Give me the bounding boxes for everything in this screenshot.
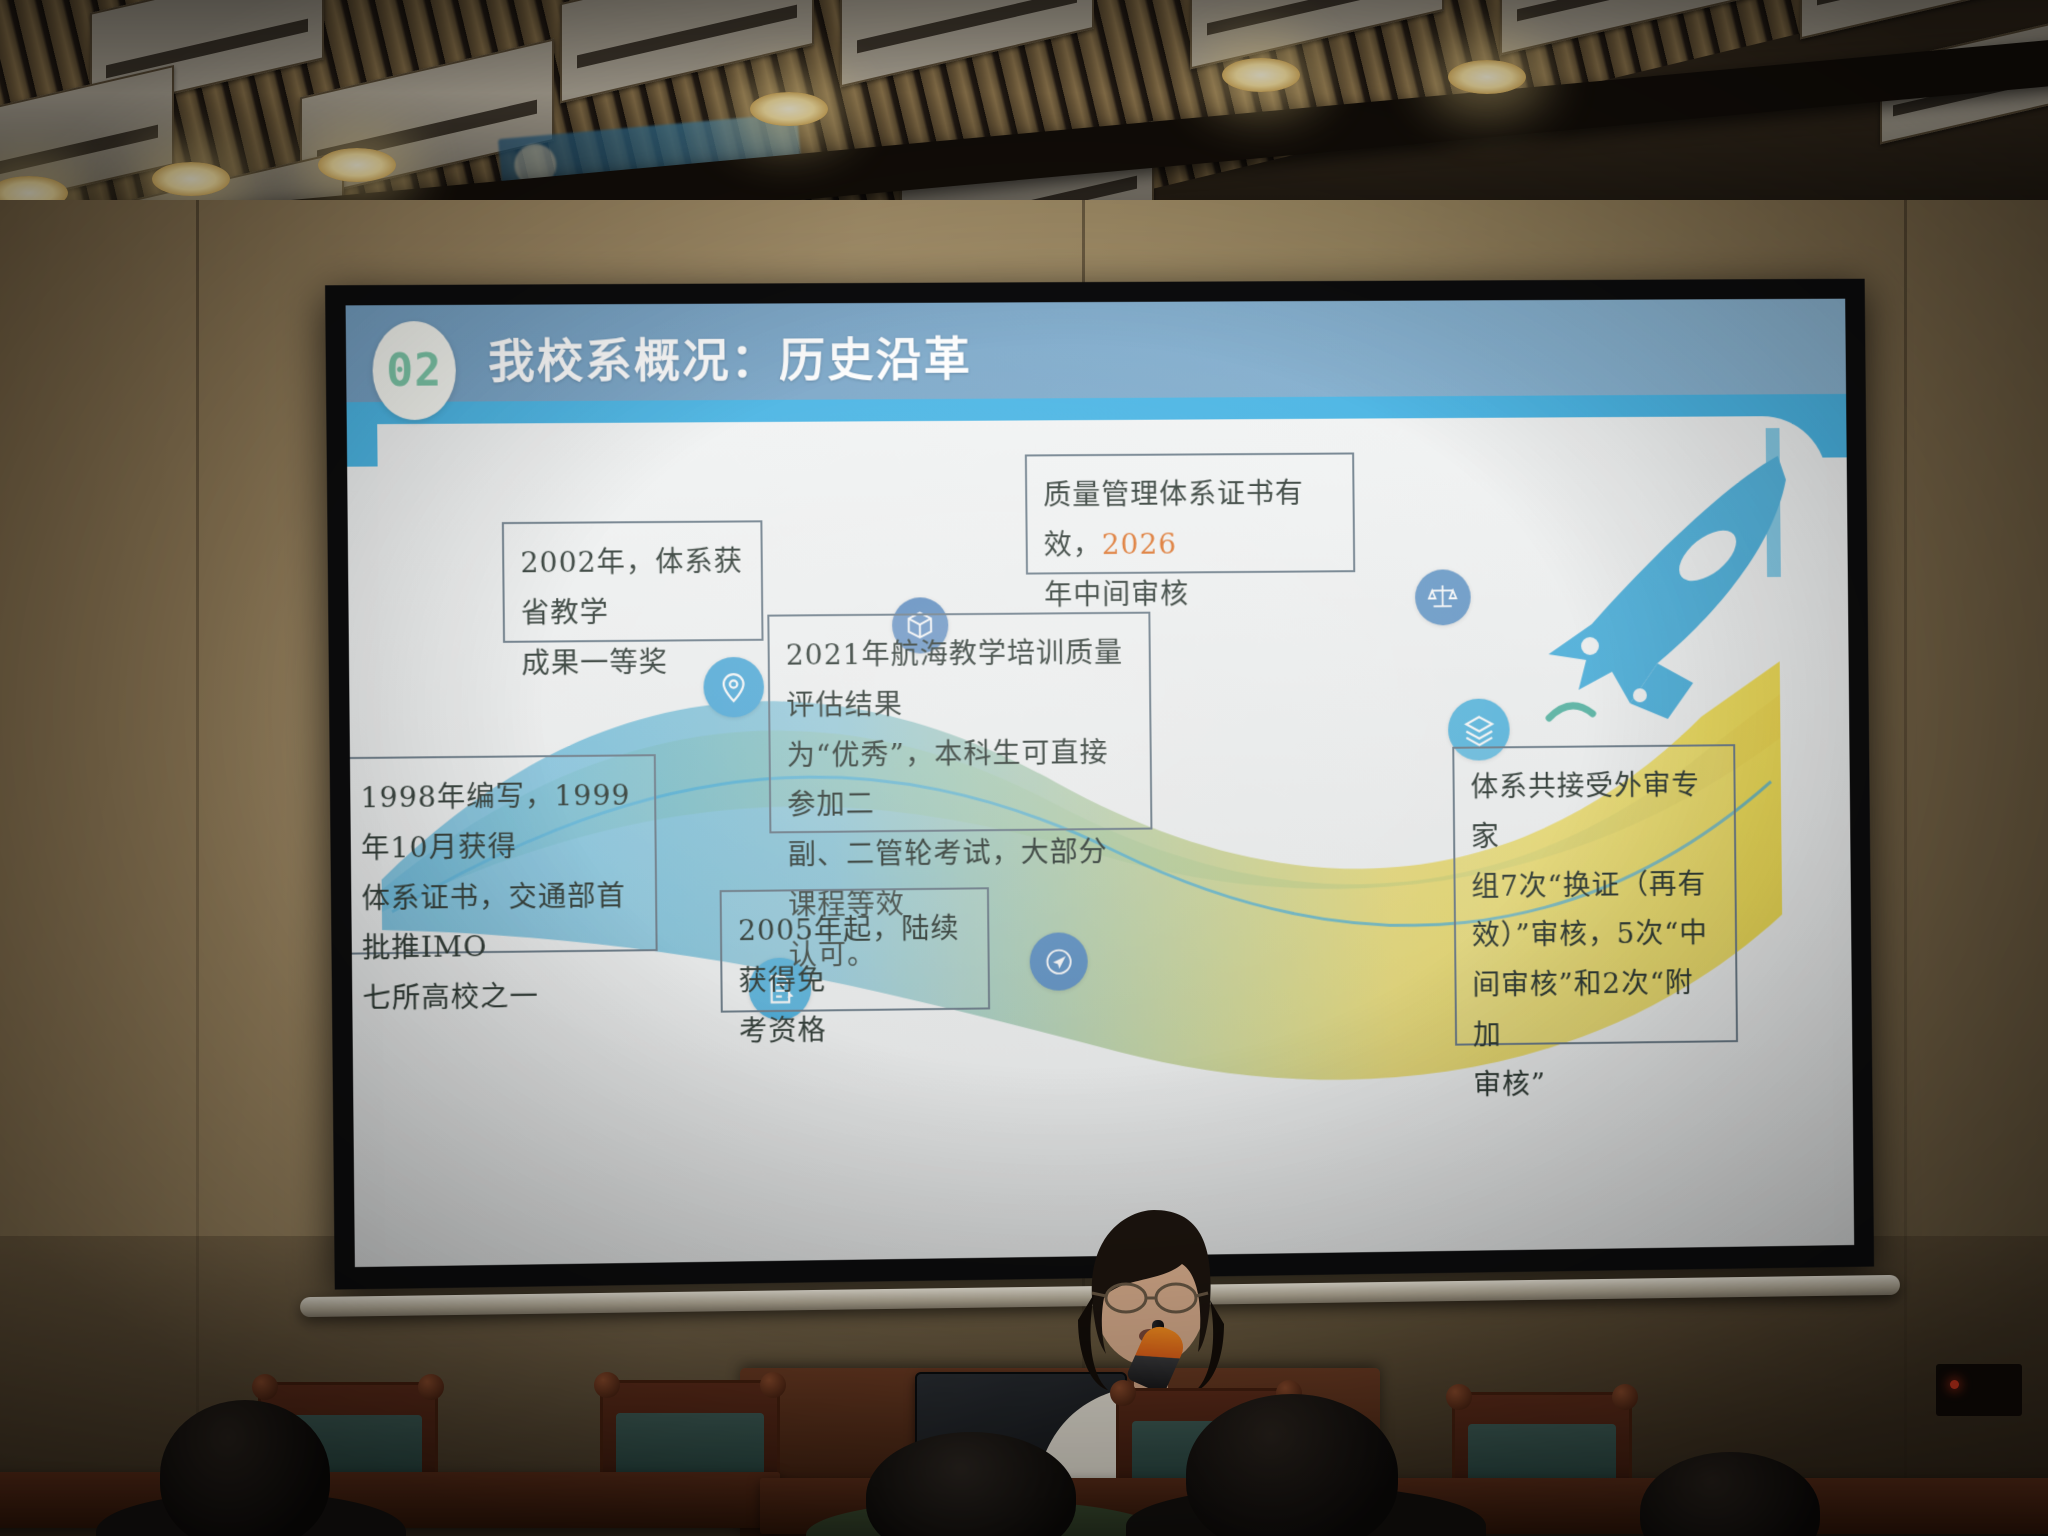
rocket-icon (1533, 428, 1832, 738)
text-line: 考资格 (739, 1003, 973, 1056)
text-line: 成果一等奖 (521, 637, 746, 689)
text-line: 2005年起，陆续获得免 (738, 903, 972, 1006)
text-box-certificate: 质量管理体系证书有效，2026 年中间审核 (1025, 452, 1355, 574)
slide-title: 我校系概况：历史沿革 (488, 323, 972, 392)
text-line: 体系共接受外审专家 (1470, 760, 1718, 862)
scales-icon (1415, 569, 1471, 625)
text-line: 效）”审核，5次“中 (1472, 909, 1720, 961)
projection-screen: 02 我校系概况：历史沿革 (325, 279, 1874, 1290)
screen-surface: 02 我校系概况：历史沿革 (346, 299, 1855, 1267)
ceiling-light (1448, 60, 1526, 94)
slide-section-badge: 02 (372, 321, 456, 420)
ceiling-light (318, 148, 396, 182)
text-line: 2002年，体系获省教学 (520, 537, 745, 639)
lecture-hall-photo: 02 我校系概况：历史沿革 (0, 0, 2048, 1536)
text-line: 审核” (1473, 1057, 1721, 1110)
wall-device-panel (1936, 1364, 2022, 1416)
ceiling-light (750, 92, 828, 126)
text-line: 七所高校之一 (362, 971, 640, 1024)
text-line: 1998年编写，1999年10月获得 (360, 770, 638, 873)
text-box-2021: 2021年航海教学培训质量评估结果 为“优秀”，本科生可直接参加二 副、二管轮考… (767, 612, 1152, 834)
text-line: 为“优秀”，本科生可直接参加二 (787, 727, 1135, 830)
ceiling-light (1222, 58, 1300, 92)
ceiling-light (152, 162, 230, 196)
text-line: 2021年航海教学培训质量评估结果 (786, 628, 1134, 731)
text-line: 质量管理体系证书有效，2026 (1043, 469, 1337, 571)
cert-year-highlight: 2026 (1102, 527, 1177, 561)
text-line: 间审核”和2次“附加 (1472, 958, 1720, 1060)
slide-section-number: 02 (386, 345, 442, 397)
text-box-2005: 2005年起，陆续获得免 考资格 (720, 887, 991, 1012)
text-line: 组7次“换证（再有 (1471, 859, 1719, 911)
text-box-2002: 2002年，体系获省教学 成果一等奖 (502, 520, 764, 643)
text-box-audit: 体系共接受外审专家 组7次“换证（再有 效）”审核，5次“中 间审核”和2次“附… (1452, 744, 1738, 1045)
ceiling (0, 0, 2048, 232)
presentation-slide: 02 我校系概况：历史沿革 (346, 299, 1855, 1267)
text-box-1998: 1998年编写，1999年10月获得 体系证书，交通部首批推IMO 七所高校之一 (346, 754, 658, 955)
text-line: 体系证书，交通部首批推IMO (361, 871, 639, 974)
